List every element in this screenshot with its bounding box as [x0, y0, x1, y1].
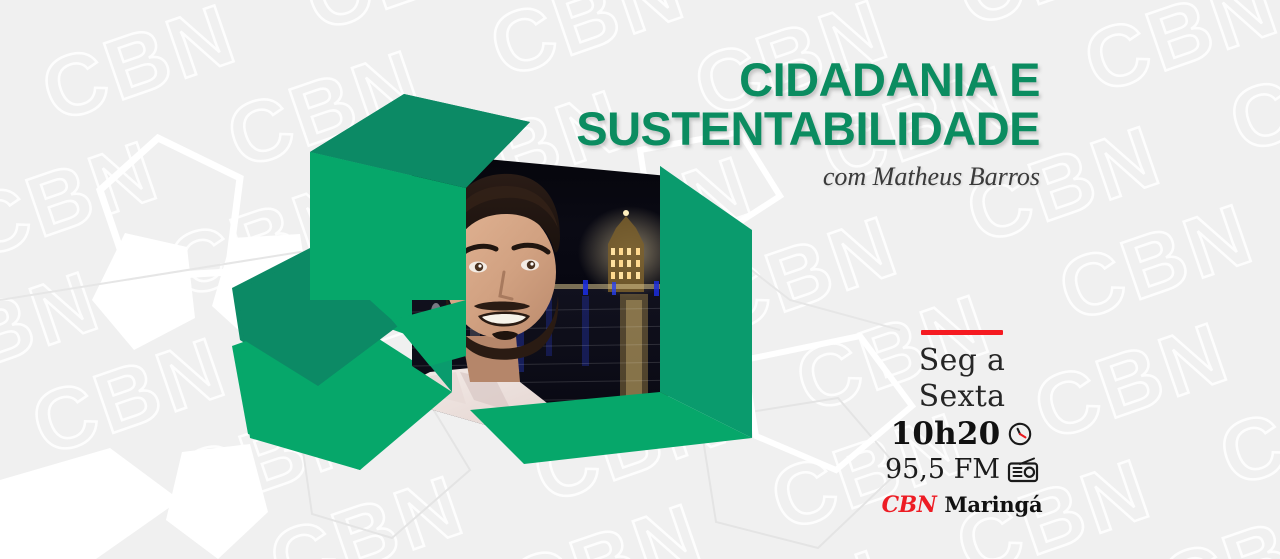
water-ripples [410, 308, 688, 402]
watermark-cbn: CBN [1207, 346, 1280, 509]
cube-face-filler [392, 300, 466, 366]
schedule-block: Seg a Sexta 10h20 95,5 FM CBN Maringá [874, 330, 1050, 517]
watermark-row: CBN CBN CBN CBN CBN CBN CBN CBN [95, 416, 1280, 559]
cube-face-right [660, 166, 752, 438]
pentagon-outline-icon [300, 404, 470, 538]
accent-line [0, 252, 520, 300]
watermark-cbn: CBN [520, 363, 741, 526]
cube-wedge-light [232, 310, 446, 470]
watermark-row: CBN CBN CBN CBN CBN CBN CBN CBN [0, 514, 1280, 559]
pentagon-filled-icon [92, 233, 195, 350]
program-host-subtitle: com Matheus Barros [576, 162, 1040, 192]
cbn-logo: CBN [882, 493, 937, 517]
pentagon-outline-icon [100, 138, 240, 278]
broadcast-days: Seg a Sexta [874, 343, 1050, 415]
watermark-cbn: CBN [214, 28, 435, 191]
city-building [578, 206, 682, 298]
cube-top-face-front [310, 94, 530, 188]
radio-icon [1007, 457, 1039, 483]
watermark-cbn: CBN [1046, 181, 1267, 344]
pentagon-outline-icon [700, 398, 900, 548]
watermark-cbn: CBN [155, 158, 376, 321]
watermark-cbn: CBN [1148, 476, 1280, 559]
watermark-cbn: CBN [741, 0, 962, 10]
program-title-line-1: CIDADANIA E [576, 55, 1040, 104]
polygon-band [0, 448, 180, 559]
watermark-cbn: CBN [164, 375, 385, 538]
watermark-cbn: CBN [1274, 543, 1280, 559]
clock-icon [1007, 421, 1033, 447]
station-brand-row: CBN Maringá [874, 493, 1050, 517]
person [392, 174, 566, 436]
watermark-cbn: CBN [1021, 300, 1242, 463]
cube-front-face-front [310, 152, 466, 300]
watermark-cbn: CBN [0, 466, 123, 559]
cube-top-face [310, 94, 530, 188]
cube-triangle [392, 320, 452, 392]
watermark-row: CBN CBN CBN CBN CBN CBN CBN CBN [0, 317, 1280, 559]
watermark-cbn: CBN [1217, 13, 1280, 176]
watermark-row: CBN CBN CBN CBN CBN CBN CBN CBN [0, 219, 1280, 559]
cube-wedge-dark [232, 248, 392, 386]
watermark-cbn: CBN [0, 118, 173, 281]
pentagon-filled-icon [166, 444, 268, 559]
watermark-cbn: CBN [945, 0, 1166, 49]
watermark-cbn: CBN [29, 0, 250, 145]
broadcast-time-row: 10h20 [874, 416, 1050, 452]
cube-right-face-dark [660, 166, 750, 434]
cube-front-face [310, 152, 466, 356]
station-city-label: Maringá [944, 493, 1042, 517]
program-title-line-2: SUSTENTABILIDADE [576, 104, 1040, 153]
program-title-block: CIDADANIA E SUSTENTABILIDADE com Matheus… [576, 55, 1040, 192]
frequency-row: 95,5 FM [874, 453, 1050, 486]
cube-wedge-front-dark [238, 252, 398, 386]
accent-line [700, 230, 900, 330]
red-divider [921, 330, 1003, 335]
watermark-cbn: CBN [428, 284, 649, 447]
watermark-cbn: CBN [0, 249, 114, 412]
watermark-cbn: CBN [282, 224, 503, 387]
broadcast-time: 10h20 [891, 416, 1001, 452]
watermark-cbn: CBN [0, 544, 215, 559]
cbn-program-banner: CBN CBN CBN CBN CBN CBN CBN CBN CBN CBN … [0, 0, 1280, 559]
water-reflections [470, 294, 676, 414]
watermark-cbn: CBN [1071, 0, 1280, 116]
watermark-cbn: CBN [257, 453, 478, 559]
water-reflections-blue [516, 296, 589, 372]
left-reflection-lights [431, 303, 441, 360]
watermark-cbn: CBN [19, 315, 240, 478]
watermark-cbn: CBN [495, 481, 716, 559]
watermark-cbn: CBN [292, 0, 513, 54]
cube-face-bottom [470, 392, 752, 464]
watermark-cbn: CBN [681, 527, 902, 559]
frequency-value: 95,5 FM [885, 453, 1000, 486]
pentagon-filled-icon [212, 234, 312, 348]
cube-wedge-front [240, 318, 452, 470]
